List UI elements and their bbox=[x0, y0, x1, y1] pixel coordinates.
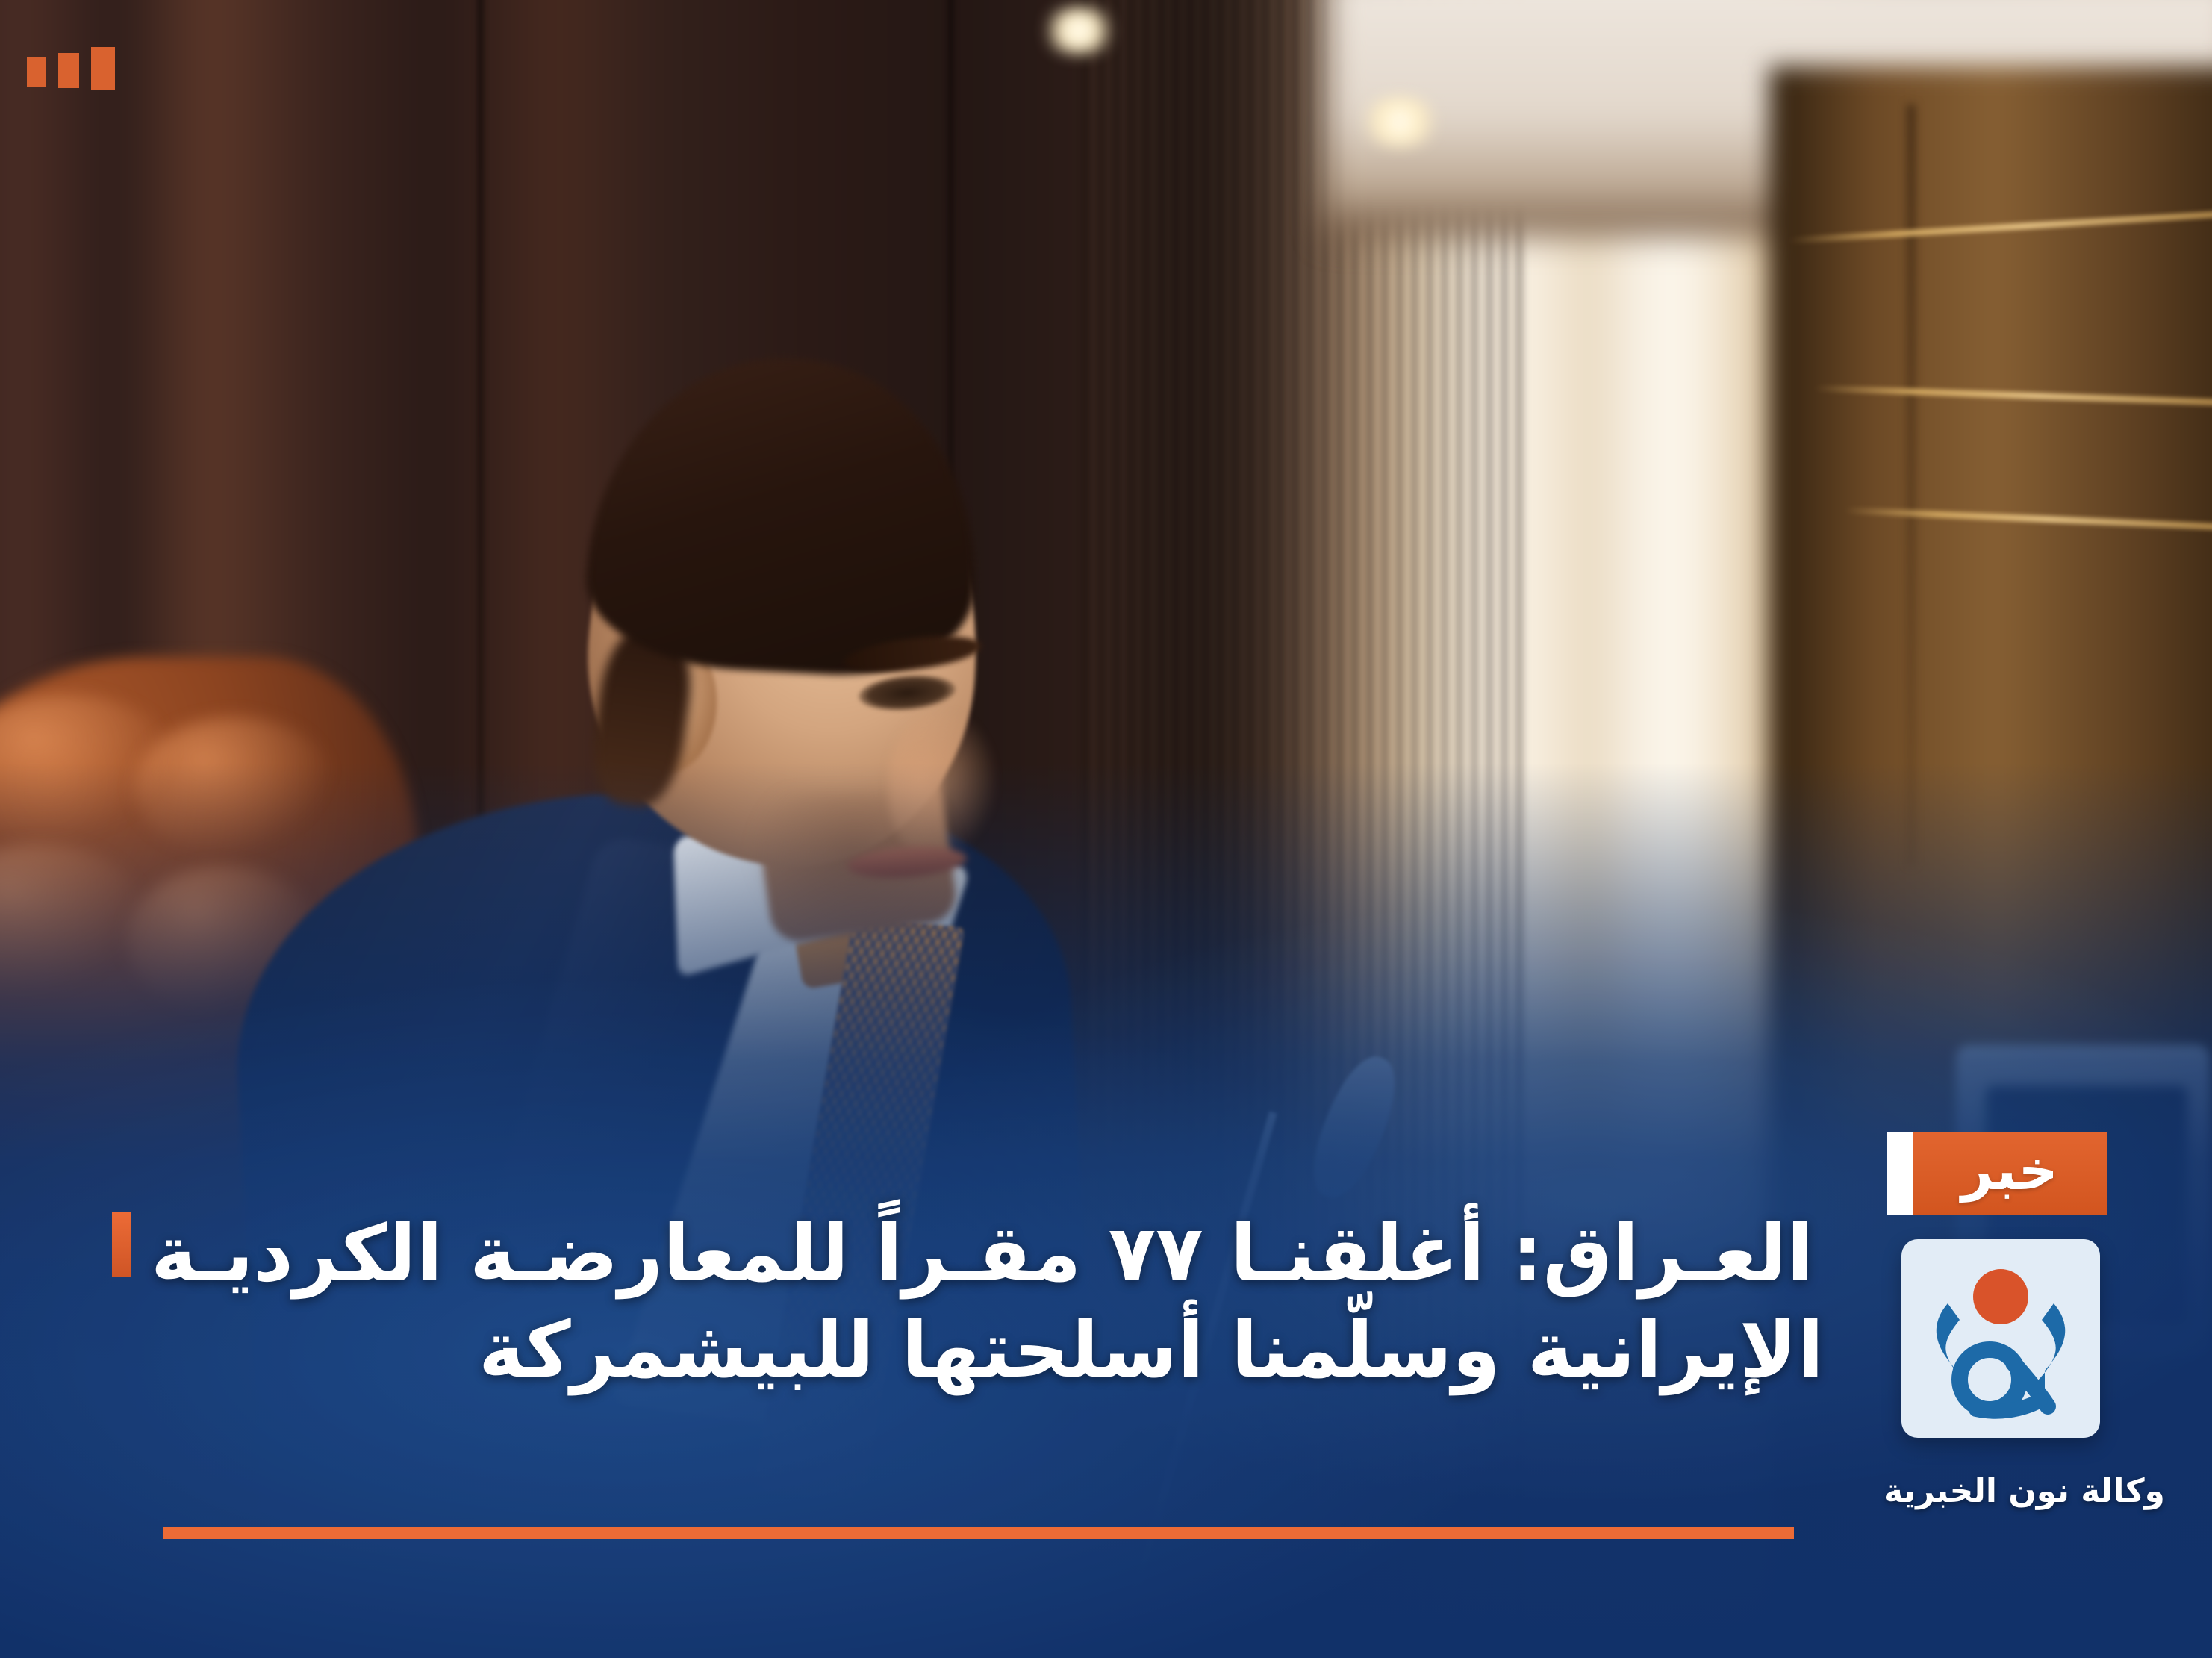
headline-line-1-row: العـراق: أغلقنـا ٧٧ مقـراً للمعارضـة الك… bbox=[112, 1203, 1824, 1304]
news-badge: خبر bbox=[1887, 1132, 2107, 1215]
agency-name: وكالة نون الخبرية bbox=[1836, 1472, 2212, 1510]
news-badge-box: خبر bbox=[1913, 1132, 2107, 1215]
watermark-bar-3 bbox=[27, 57, 46, 87]
headline-divider bbox=[163, 1527, 1794, 1539]
watermark-bar-1 bbox=[91, 47, 115, 90]
news-badge-label: خبر bbox=[1961, 1143, 2058, 1198]
headline-line-2: الإيرانية وسلّمنا أسلحتها للبيشمركة bbox=[112, 1300, 1824, 1400]
news-card: العـراق: أغلقنـا ٧٧ مقـراً للمعارضـة الك… bbox=[0, 0, 2212, 1658]
three-bars-watermark bbox=[27, 47, 115, 90]
headline-line-1: العـراق: أغلقنـا ٧٧ مقـراً للمعارضـة الك… bbox=[151, 1203, 1813, 1304]
news-badge-tip bbox=[1887, 1132, 1913, 1215]
logo-head-circle bbox=[1973, 1269, 2028, 1324]
headline-marker-bar bbox=[112, 1212, 131, 1277]
headline: العـراق: أغلقنـا ٧٧ مقـراً للمعارضـة الك… bbox=[112, 1203, 1824, 1400]
watermark-bar-2 bbox=[58, 53, 79, 88]
agency-logo bbox=[1901, 1239, 2100, 1438]
